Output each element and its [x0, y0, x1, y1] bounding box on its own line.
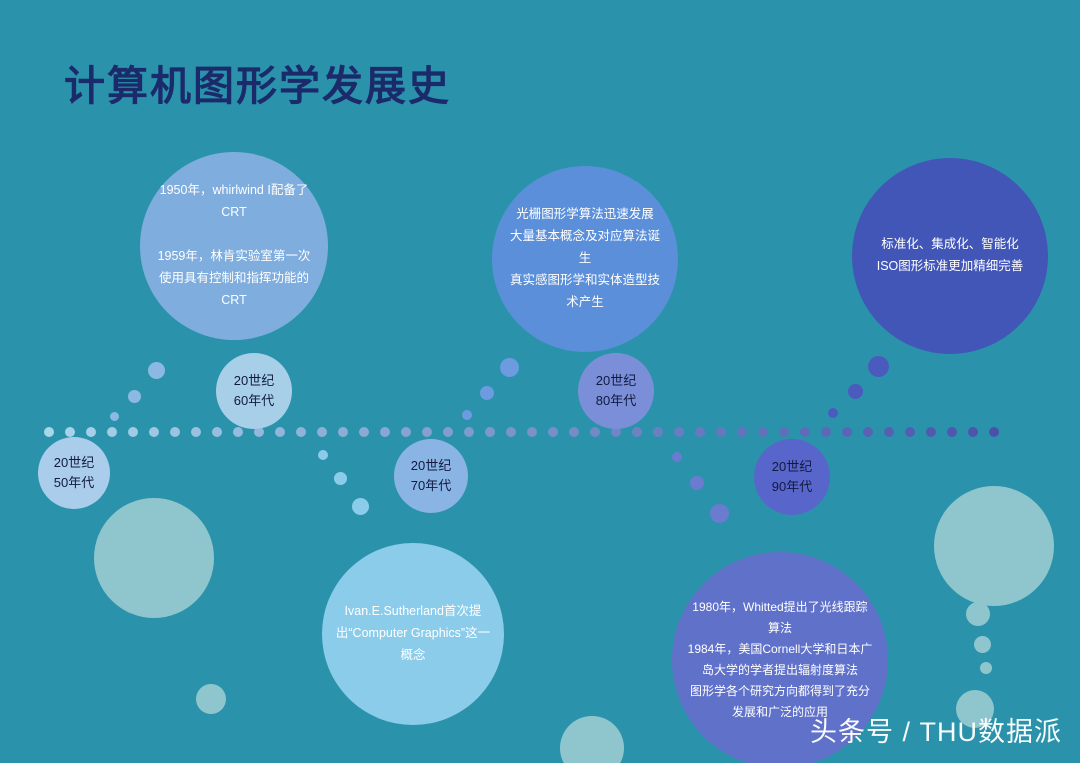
timeline-dot [86, 427, 96, 437]
watermark: 头条号 / THU数据派 [810, 710, 1062, 749]
decade-90s[interactable]: 20世纪 90年代 [754, 439, 830, 515]
timeline-dot [947, 427, 957, 437]
connector-dot [848, 384, 863, 399]
timeline-dot [191, 427, 201, 437]
timeline-dot [65, 427, 75, 437]
timeline-dot [527, 427, 537, 437]
timeline-dot [674, 427, 684, 437]
decade-70s[interactable]: 20世纪 70年代 [394, 439, 468, 513]
connector-dot [148, 362, 165, 379]
timeline-dot [653, 427, 663, 437]
decorative-circle [560, 716, 624, 763]
decorative-circle [980, 662, 992, 674]
timeline-dot [401, 427, 411, 437]
timeline-dot [380, 427, 390, 437]
decade-label: 20世纪 80年代 [596, 371, 636, 411]
decorative-circle [934, 486, 1054, 606]
timeline-dot [863, 427, 873, 437]
timeline-dot [989, 427, 999, 437]
decade-label: 20世纪 50年代 [54, 453, 94, 493]
decade-label: 20世纪 70年代 [411, 456, 451, 496]
decade-label: 20世纪 60年代 [234, 371, 274, 411]
timeline-dot [44, 427, 54, 437]
timeline-dot [695, 427, 705, 437]
timeline-dot [464, 427, 474, 437]
bubble-standards[interactable]: 标准化、集成化、智能化 ISO图形标准更加精细完善 [852, 158, 1048, 354]
connector-dot [690, 476, 704, 490]
connector-dot [868, 356, 889, 377]
connector-dot [128, 390, 141, 403]
timeline-dot [212, 427, 222, 437]
connector-dot [672, 452, 682, 462]
connector-dot [500, 358, 519, 377]
timeline-dot [275, 427, 285, 437]
timeline-dot [758, 427, 768, 437]
bubble-text: 1980年，Whitted提出了光线跟踪算法 1984年，美国Cornell大学… [687, 597, 873, 723]
page-title: 计算机图形学发展史 [64, 52, 451, 112]
connector-dot [352, 498, 369, 515]
timeline-dot [800, 427, 810, 437]
timeline-dot [317, 427, 327, 437]
timeline-dot [737, 427, 747, 437]
timeline-dot [296, 427, 306, 437]
decorative-circle [94, 498, 214, 618]
timeline-dot [170, 427, 180, 437]
connector-dot [480, 386, 494, 400]
timeline-dot [149, 427, 159, 437]
timeline-dot [107, 427, 117, 437]
decorative-circle [966, 602, 990, 626]
connector-dot [710, 504, 729, 523]
timeline-dot [569, 427, 579, 437]
bubble-text: Ivan.E.Sutherland首次提出“Computer Graphics”… [335, 601, 492, 667]
timeline-dot [884, 427, 894, 437]
bubble-text: 1950年，whirlwind I配备了CRT 1959年，林肯实验室第一次使用… [153, 180, 315, 311]
decorative-circle [196, 684, 226, 714]
timeline-dot [716, 427, 726, 437]
timeline-dot [485, 427, 495, 437]
timeline-dot [128, 427, 138, 437]
timeline-dot [842, 427, 852, 437]
decorative-circle [974, 636, 991, 653]
timeline-dot [506, 427, 516, 437]
connector-dot [334, 472, 347, 485]
bubble-text: 标准化、集成化、智能化 ISO图形标准更加精细完善 [866, 234, 1035, 278]
timeline-dot [905, 427, 915, 437]
timeline-dot [422, 427, 432, 437]
bubble-text: 光栅图形学算法迅速发展 大量基本概念及对应算法诞生 真实感图形学和实体造型技术产… [505, 204, 665, 313]
timeline-dot [926, 427, 936, 437]
timeline-dot [548, 427, 558, 437]
timeline-dot [233, 427, 243, 437]
bubble-1950s[interactable]: 1950年，whirlwind I配备了CRT 1959年，林肯实验室第一次使用… [140, 152, 328, 340]
connector-dot [318, 450, 328, 460]
timeline-dot [359, 427, 369, 437]
decade-80s[interactable]: 20世纪 80年代 [578, 353, 654, 429]
decade-50s[interactable]: 20世纪 50年代 [38, 437, 110, 509]
connector-dot [462, 410, 472, 420]
timeline-dot [968, 427, 978, 437]
decade-label: 20世纪 90年代 [772, 457, 812, 497]
timeline-dot [821, 427, 831, 437]
connector-dot [110, 412, 119, 421]
timeline-dot [779, 427, 789, 437]
timeline-dot [338, 427, 348, 437]
bubble-1960s[interactable]: Ivan.E.Sutherland首次提出“Computer Graphics”… [322, 543, 504, 725]
timeline-dot [632, 427, 642, 437]
infographic-canvas: 1950年，whirlwind I配备了CRT 1959年，林肯实验室第一次使用… [0, 0, 1080, 763]
bubble-1980s[interactable]: 光栅图形学算法迅速发展 大量基本概念及对应算法诞生 真实感图形学和实体造型技术产… [492, 166, 678, 352]
timeline-dot [590, 427, 600, 437]
timeline-dot [443, 427, 453, 437]
connector-dot [828, 408, 838, 418]
decade-60s[interactable]: 20世纪 60年代 [216, 353, 292, 429]
